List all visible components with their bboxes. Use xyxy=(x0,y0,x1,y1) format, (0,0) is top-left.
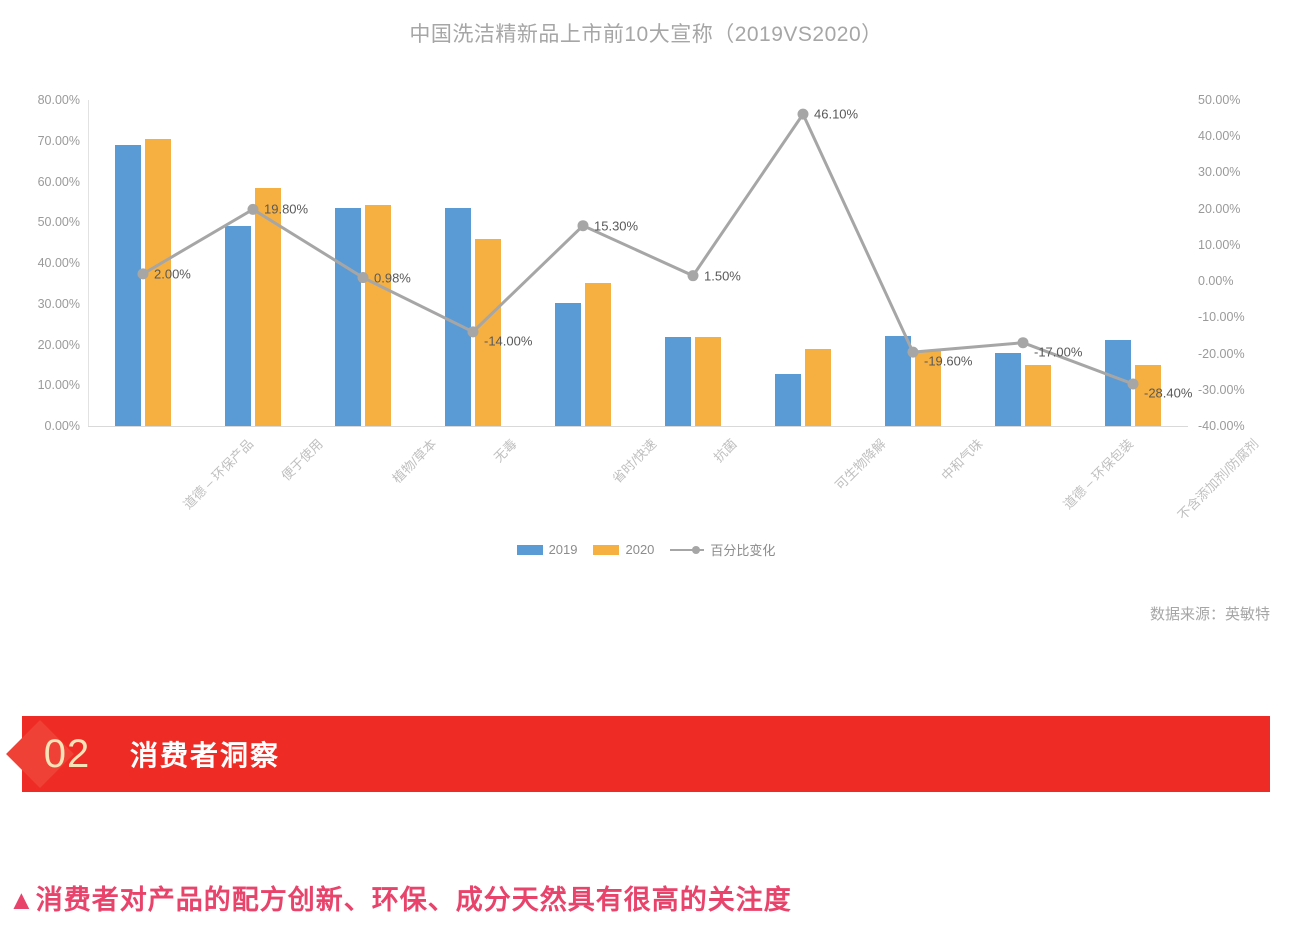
line-marker[interactable] xyxy=(798,109,809,120)
line-data-label: 2.00% xyxy=(154,266,191,281)
legend-label-2019: 2019 xyxy=(549,542,578,557)
y-axis-right-tick: -20.00% xyxy=(1198,347,1245,361)
y-axis-right-tick: 0.00% xyxy=(1198,274,1233,288)
legend-item-percent-change[interactable]: 百分比变化 xyxy=(670,540,775,559)
y-axis-right-tick: 40.00% xyxy=(1198,129,1240,143)
y-axis-left-tick: 70.00% xyxy=(38,134,80,148)
legend-swatch-icon-2020 xyxy=(593,545,619,555)
y-axis-right-tick: 30.00% xyxy=(1198,165,1240,179)
percent-change-line xyxy=(143,114,1133,384)
y-axis-right-tick: 20.00% xyxy=(1198,202,1240,216)
y-axis-left-tick: 0.00% xyxy=(45,419,80,433)
line-marker[interactable] xyxy=(138,268,149,279)
legend-swatch-icon-2019 xyxy=(517,545,543,555)
y-axis-right-tick: -30.00% xyxy=(1198,383,1245,397)
line-data-label: 1.50% xyxy=(704,268,741,283)
legend-line-marker-icon xyxy=(670,545,704,555)
x-axis-label: 可生物降解 xyxy=(830,434,889,493)
plot-baseline xyxy=(88,426,1188,427)
y-axis-left-tick: 50.00% xyxy=(38,215,80,229)
y-axis-left-tick: 30.00% xyxy=(38,297,80,311)
section-number: 02 xyxy=(22,726,112,782)
x-axis-label: 中和气味 xyxy=(936,434,986,484)
line-marker[interactable] xyxy=(908,347,919,358)
y-axis-left-tick: 20.00% xyxy=(38,338,80,352)
legend-label-2020: 2020 xyxy=(625,542,654,557)
y-axis-left-tick: 60.00% xyxy=(38,175,80,189)
line-data-label: -28.40% xyxy=(1144,385,1192,400)
legend-item-2020[interactable]: 2020 xyxy=(593,542,654,557)
line-data-label: -14.00% xyxy=(484,333,532,348)
y-axis-right-tick: -40.00% xyxy=(1198,419,1245,433)
x-axis-label: 道德 – 环保产品 xyxy=(178,434,257,513)
line-data-label: 19.80% xyxy=(264,202,308,217)
line-series xyxy=(88,100,1188,426)
y-axis-right-tick: 10.00% xyxy=(1198,238,1240,252)
chart-title: 中国洗洁精新品上市前10大宣称（2019VS2020） xyxy=(0,18,1292,48)
legend-item-2019[interactable]: 2019 xyxy=(517,542,578,557)
line-marker[interactable] xyxy=(248,204,259,215)
line-marker[interactable] xyxy=(1018,337,1029,348)
y-axis-right-tick: -10.00% xyxy=(1198,310,1245,324)
y-axis-left-tick: 40.00% xyxy=(38,256,80,270)
x-axis-label: 抗菌 xyxy=(709,434,741,466)
legend-label-percent-change: 百分比变化 xyxy=(710,540,775,559)
x-axis-label: 无毒 xyxy=(489,434,521,466)
line-marker[interactable] xyxy=(578,220,589,231)
footnote-text: ▲消费者对产品的配方创新、环保、成分天然具有很高的关注度 xyxy=(8,878,792,917)
chart-plot-area: 0.00%10.00%20.00%30.00%40.00%50.00%60.00… xyxy=(88,100,1188,426)
y-axis-left-tick: 80.00% xyxy=(38,93,80,107)
line-marker[interactable] xyxy=(688,270,699,281)
chart-legend: 2019 2020 百分比变化 xyxy=(0,540,1292,559)
line-data-label: 15.30% xyxy=(594,218,638,233)
y-axis-left-tick: 10.00% xyxy=(38,378,80,392)
line-data-label: -19.60% xyxy=(924,354,972,369)
line-marker[interactable] xyxy=(1128,378,1139,389)
line-marker[interactable] xyxy=(468,326,479,337)
line-data-label: 0.98% xyxy=(374,270,411,285)
x-axis-label: 植物/草本 xyxy=(387,434,440,487)
section-title: 消费者洞察 xyxy=(130,716,280,792)
x-axis-labels: 道德 – 环保产品便于使用植物/草本无毒省时/快速抗菌可生物降解中和气味道德 –… xyxy=(88,430,1188,540)
line-data-label: -17.00% xyxy=(1034,344,1082,359)
x-axis-label: 道德 – 环保包装 xyxy=(1058,434,1137,513)
y-axis-right-tick: 50.00% xyxy=(1198,93,1240,107)
x-axis-label: 省时/快速 xyxy=(607,434,660,487)
source-note: 数据来源：英敏特 xyxy=(1150,603,1270,624)
x-axis-label: 便于使用 xyxy=(276,434,326,484)
x-axis-label: 不含添加剂/防腐剂 xyxy=(1173,434,1263,524)
line-data-label: 46.10% xyxy=(814,107,858,122)
line-marker[interactable] xyxy=(358,272,369,283)
